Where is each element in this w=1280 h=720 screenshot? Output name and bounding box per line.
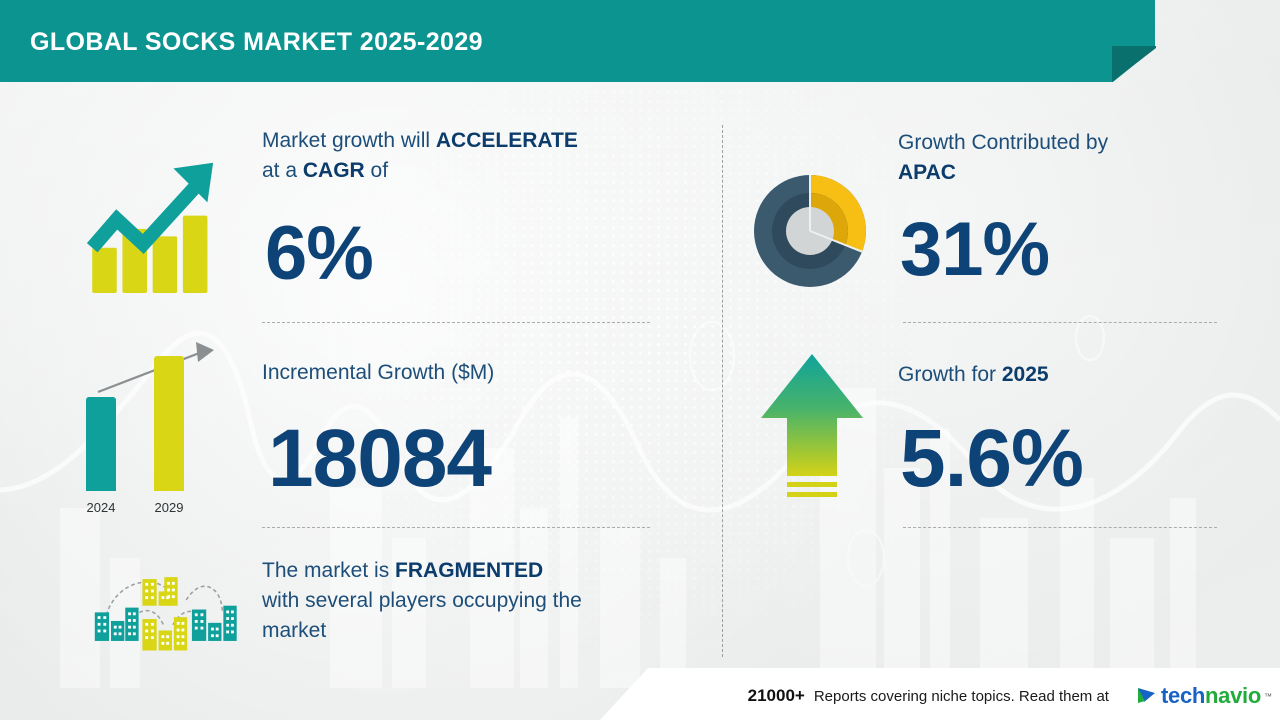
cagr-line2-suffix: of	[365, 159, 388, 182]
bar-label-2029: 2029	[139, 500, 199, 515]
incremental-growth-value: 18084	[268, 418, 491, 500]
bar-2024	[86, 397, 116, 491]
cagr-text-block: Market growth will ACCELERATE at a CAGR …	[262, 126, 662, 186]
technavio-logo[interactable]: technavio ™	[1134, 683, 1272, 709]
cagr-line1-bold: ACCELERATE	[436, 129, 578, 152]
growth-2025-value: 5.6%	[900, 418, 1083, 500]
donut-chart-icon	[747, 168, 873, 294]
column-divider	[722, 125, 723, 657]
cagr-line2-bold: CAGR	[303, 159, 365, 182]
divider-left-1	[262, 322, 650, 323]
cagr-line1-prefix: Market growth will	[262, 129, 436, 152]
cagr-value: 6%	[265, 216, 373, 292]
footer-content: 21000+ Reports covering niche topics. Re…	[748, 683, 1272, 709]
header: GLOBAL SOCKS MARKET 2025-2029	[0, 0, 1280, 82]
logo-navio-text: navio	[1205, 683, 1261, 708]
logo-trademark: ™	[1264, 692, 1272, 701]
technavio-arrow-icon	[1134, 684, 1158, 708]
bar-2029	[154, 356, 184, 491]
cagr-caption: Market growth will ACCELERATE at a CAGR …	[262, 126, 662, 186]
cagr-line2-prefix: at a	[262, 159, 303, 182]
logo-tech-text: tech	[1161, 683, 1205, 708]
fragmented-text-block: The market is FRAGMENTED with several pl…	[262, 556, 682, 645]
apac-value: 31%	[900, 212, 1049, 288]
apac-label-prefix: Growth Contributed by	[898, 131, 1108, 154]
growth-2025-label-bold: 2025	[1002, 363, 1049, 386]
divider-right-1	[903, 322, 1217, 323]
page-title: GLOBAL SOCKS MARKET 2025-2029	[30, 28, 483, 57]
fragmented-caption: The market is FRAGMENTED with several pl…	[262, 556, 682, 645]
apac-label-bold: APAC	[898, 161, 956, 184]
incremental-growth-label: Incremental Growth ($M)	[262, 358, 494, 388]
fragmented-line1-bold: FRAGMENTED	[395, 559, 543, 582]
fragmented-line1-prefix: The market is	[262, 559, 395, 582]
divider-left-2	[262, 527, 650, 528]
apac-text-block: Growth Contributed by APAC	[898, 128, 1218, 188]
footer-tagline: Reports covering niche topics. Read them…	[814, 688, 1109, 705]
growth-2025-label-prefix: Growth for	[898, 363, 1002, 386]
technavio-wordmark: technavio	[1161, 683, 1261, 709]
apac-caption: Growth Contributed by APAC	[898, 128, 1218, 188]
two-bar-comparison-icon: 2024 2029	[62, 340, 232, 515]
up-arrow-gradient-icon	[757, 350, 867, 510]
fragmented-line3: market	[262, 619, 326, 642]
footer: 21000+ Reports covering niche topics. Re…	[0, 668, 1280, 720]
growth-2025-caption: Growth for 2025	[898, 360, 1049, 390]
footer-report-count: 21000+	[748, 686, 805, 706]
city-clusters-network-icon	[78, 560, 243, 660]
fragmented-line2: with several players occupying the	[262, 589, 582, 612]
bar-label-2024: 2024	[71, 500, 131, 515]
growth-bar-chart-arrow-icon	[62, 140, 232, 295]
divider-right-2	[903, 527, 1217, 528]
